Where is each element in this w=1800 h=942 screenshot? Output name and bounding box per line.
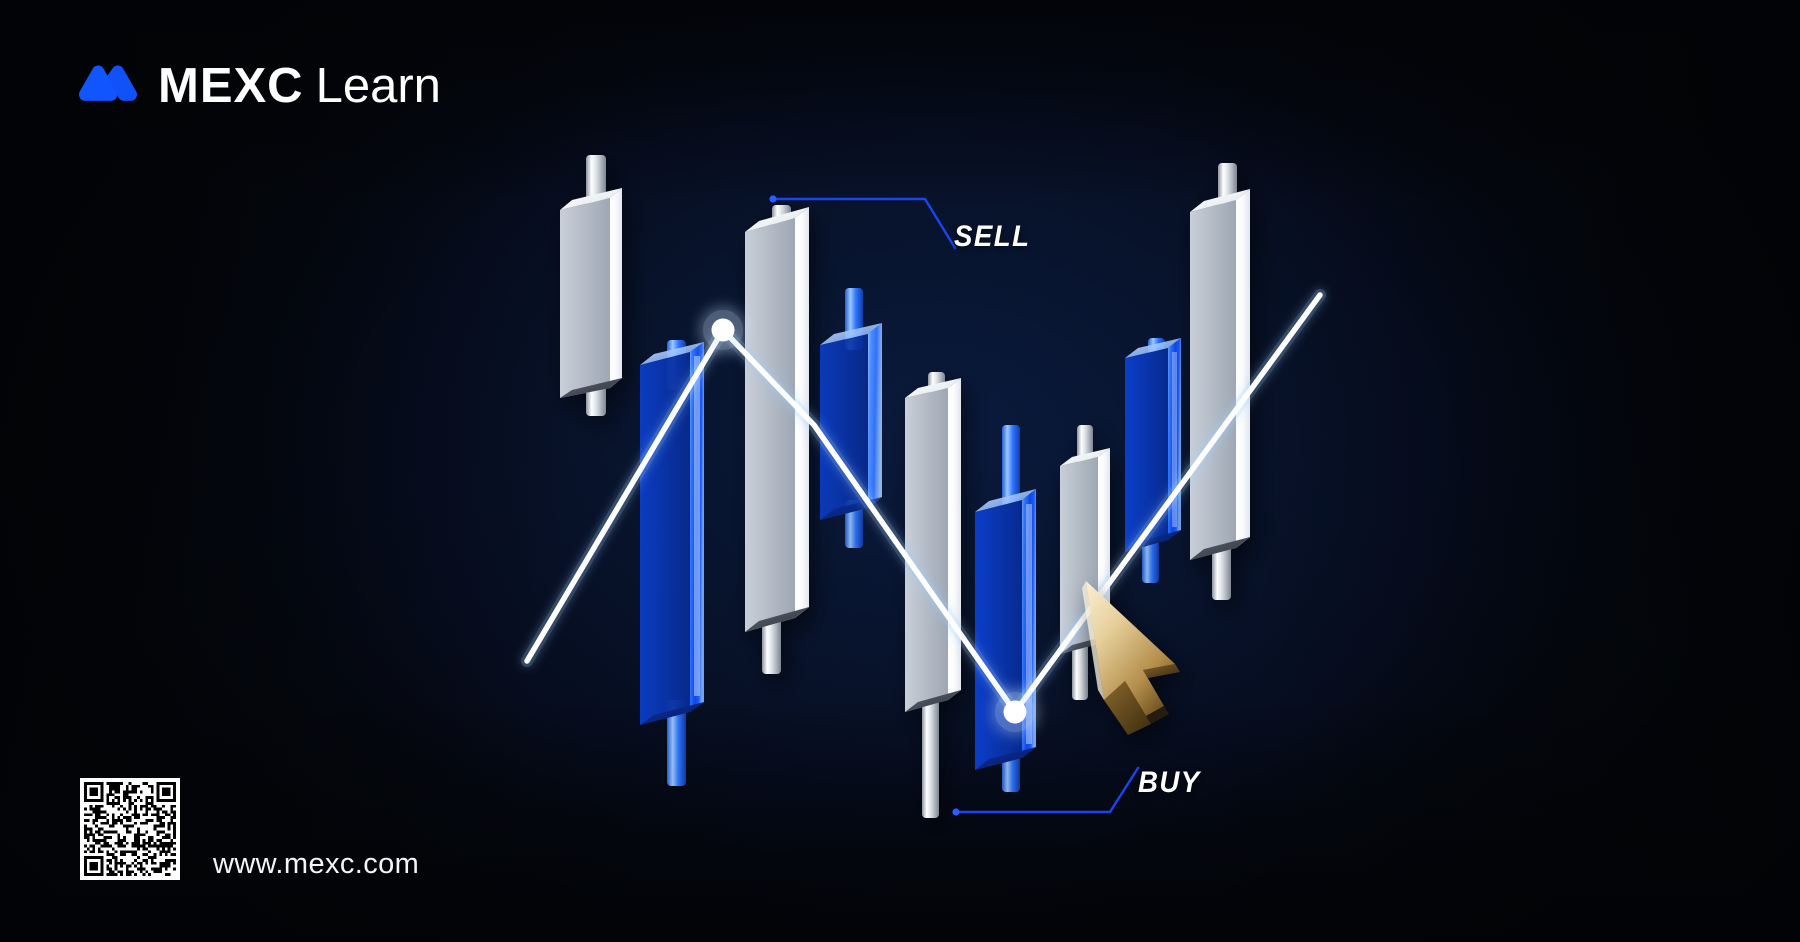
candle-1-bearish (560, 155, 622, 416)
mouse-pointer-icon[interactable] (1082, 581, 1180, 735)
candle-9-bearish (1190, 163, 1250, 600)
poster-canvas: SELL BUY MEXC Learn www.mexc.com (0, 0, 1800, 942)
trend-node-top[interactable] (703, 310, 743, 350)
buy-connector-line (952, 768, 1138, 816)
buy-label: BUY (1138, 766, 1201, 800)
sell-label: SELL (954, 220, 1030, 254)
site-url: www.mexc.com (213, 848, 419, 881)
chart-svg (0, 0, 1800, 942)
mexc-m-logo-icon (76, 65, 138, 109)
candlestick-chart: SELL BUY (0, 0, 1800, 942)
brand-subtitle: Learn (316, 62, 441, 111)
trend-node-bottom[interactable] (995, 692, 1035, 732)
logo-text: MEXC Learn (158, 62, 441, 111)
candle-3-bearish (745, 205, 809, 674)
candle-6-bullish (975, 425, 1036, 792)
header: MEXC Learn (76, 62, 441, 111)
footer (80, 778, 180, 880)
qr-code-icon[interactable] (80, 778, 180, 880)
brand-name: MEXC (158, 62, 304, 111)
